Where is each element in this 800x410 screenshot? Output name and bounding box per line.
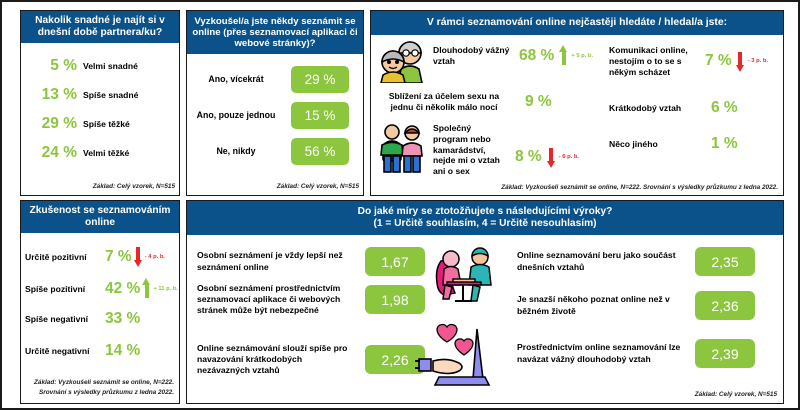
list-item: Online seznámování slouží spíše pro nava… bbox=[197, 343, 425, 377]
panel1-label-1: Spíše snadné bbox=[83, 90, 138, 100]
panel2-label-0: Ano, vícekrát bbox=[187, 74, 291, 85]
panel3-left-label-0: Dlouhodobý vážný vztah bbox=[433, 45, 513, 67]
panel4-delta-0: - 4 p. b. bbox=[145, 254, 165, 260]
infographic-sheet: Nakolik snadné je najít si v dnešní době… bbox=[0, 0, 800, 410]
panel3-left-delta-0: + 5 p. b. bbox=[571, 53, 593, 59]
list-item: Ano, pouze jednou 15 % bbox=[187, 102, 363, 129]
list-item: Něco jiného 1 % bbox=[609, 135, 738, 153]
panel1-label-2: Spíše těžké bbox=[83, 119, 130, 129]
panel3-title: V rámci seznamování online nejčastěji hl… bbox=[371, 11, 783, 35]
panel-experience-with-online-dating: Zkušenost se seznamováním online Určitě … bbox=[20, 200, 180, 404]
panel3-source: Základ: Vyzkoušeli seznámit se online, N… bbox=[501, 184, 778, 192]
panel3-right-pct-0: 7 % bbox=[705, 52, 732, 70]
panel5-title-line1: Do jaké míry se ztotožňujete s následují… bbox=[358, 206, 613, 218]
panel3-left-pct-2: 8 % bbox=[515, 148, 542, 166]
panel5-title-line2: (1 = Určitě souhlasím, 4 = Určitě nesouh… bbox=[373, 218, 596, 230]
panel4-label-1: Spíše pozitivní bbox=[21, 284, 105, 294]
arrow-up-icon bbox=[142, 278, 151, 299]
panel3-right-pct-2: 1 % bbox=[711, 135, 738, 153]
list-item: Ne, nikdy 56 % bbox=[187, 138, 363, 165]
panel3-right-label-0: Komunikaci online, nestojím o to se s ně… bbox=[609, 45, 701, 77]
arrow-down-icon bbox=[736, 51, 745, 72]
list-item: Osobní seznámení prostřednictvím seznamo… bbox=[197, 283, 425, 317]
list-item: 13 % Spíše snadné bbox=[21, 86, 179, 104]
panel1-label-3: Velmi těžké bbox=[83, 148, 129, 158]
panel2-source: Základ: Celý vzorek, N=515 bbox=[277, 183, 359, 191]
elderly-couple-icon bbox=[377, 39, 429, 83]
panel1-source: Základ: Celý vzorek, N=515 bbox=[93, 183, 175, 191]
panel4-pct-1: 42 % bbox=[105, 280, 140, 298]
panel4-label-0: Určitě pozitivní bbox=[21, 252, 105, 262]
arrow-down-icon bbox=[134, 246, 143, 267]
panel5-left-label-0: Osobní seznámení je vždy lepší než sezná… bbox=[197, 250, 357, 272]
list-item: 24 % Velmi těžké bbox=[21, 144, 179, 162]
panel2-value-0: 29 % bbox=[291, 66, 349, 93]
panel5-left-value-0: 1,67 bbox=[365, 247, 425, 276]
list-item: Spíše pozitivní 42 % + 11 p. b. bbox=[21, 278, 179, 299]
panel5-body: Osobní seznámení je vždy lepší než sezná… bbox=[187, 235, 783, 403]
couple-at-table-icon bbox=[427, 243, 499, 305]
list-item: 29 % Spíše těžké bbox=[21, 115, 179, 133]
list-item: Společný program nebo kamarádství, nejde… bbox=[433, 123, 579, 177]
list-item: Spíše negativní 33 % bbox=[21, 310, 179, 328]
panel1-body: 5 % Velmi snadné 13 % Spíše snadné 29 % … bbox=[21, 43, 179, 195]
list-item: Osobní seznámení je vždy lepší než sezná… bbox=[197, 247, 425, 276]
list-item: Je snazší někoho poznat online než v běž… bbox=[517, 291, 755, 320]
panel1-pct-0: 5 % bbox=[21, 57, 83, 75]
panel3-right-delta-0: - 3 p. b. bbox=[748, 58, 768, 64]
list-item: Krátkodobý vztah 6 % bbox=[609, 99, 738, 117]
list-item: Dlouhodobý vážný vztah 68 % + 5 p. b. bbox=[433, 45, 593, 67]
panel2-value-1: 15 % bbox=[291, 102, 349, 129]
panel5-right-label-2: Prostřednictvím online seznamování lze n… bbox=[517, 342, 687, 364]
panel3-left-delta-2: - 6 p. b. bbox=[559, 154, 579, 160]
panel3-left-pct-0: 68 % bbox=[519, 47, 554, 65]
list-item: Sblížení za účelem sexu na jednu či něko… bbox=[379, 91, 552, 113]
arrow-down-icon bbox=[547, 147, 556, 168]
panel3-right-label-2: Něco jiného bbox=[609, 139, 707, 150]
panel-agreement-with-statements: Do jaké míry se ztotožňujete s následují… bbox=[186, 200, 784, 404]
panel-ease-of-finding-partner: Nakolik snadné je najít si v dnešní době… bbox=[20, 10, 180, 196]
panel1-pct-3: 24 % bbox=[21, 144, 83, 162]
list-item: Ano, vícekrát 29 % bbox=[187, 66, 363, 93]
panel3-right-pct-1: 6 % bbox=[711, 99, 738, 117]
panel1-title: Nakolik snadné je najít si v dnešní době… bbox=[21, 11, 179, 43]
list-item: Online seznamování beru jako součást dne… bbox=[517, 247, 755, 276]
panel5-left-label-2: Online seznámování slouží spíše pro nava… bbox=[197, 343, 357, 377]
panel2-label-1: Ano, pouze jednou bbox=[187, 110, 291, 121]
panel4-pct-2: 33 % bbox=[105, 310, 140, 328]
panel5-right-value-1: 2,36 bbox=[695, 291, 755, 320]
panel4-label-2: Spíše negativní bbox=[21, 314, 105, 324]
panel2-body: Ano, vícekrát 29 % Ano, pouze jednou 15 … bbox=[187, 54, 363, 195]
two-friends-icon bbox=[377, 123, 429, 173]
panel1-pct-2: 29 % bbox=[21, 115, 83, 133]
list-item: Určitě pozitivní 7 % - 4 p. b. bbox=[21, 246, 179, 267]
panel5-right-label-1: Je snazší někoho poznat online než v běž… bbox=[517, 294, 687, 316]
panel4-title: Zkušenost se seznamováním online bbox=[21, 201, 179, 233]
list-item: Určitě negativní 14 % bbox=[21, 342, 179, 360]
list-item: Komunikaci online, nestojím o to se s ně… bbox=[609, 45, 768, 77]
hand-on-laptop-hearts-icon bbox=[415, 313, 505, 393]
arrow-up-icon bbox=[559, 45, 568, 66]
panel5-left-label-1: Osobní seznámení prostřednictvím seznamo… bbox=[197, 283, 357, 317]
panel5-source: Základ: Celý vzorek, N=515 bbox=[695, 391, 777, 399]
panel3-left-pct-1: 9 % bbox=[525, 93, 552, 111]
list-item: 5 % Velmi snadné bbox=[21, 57, 179, 75]
panel1-label-0: Velmi snadné bbox=[83, 61, 138, 71]
panel3-left-label-1: Sblížení za účelem sexu na jednu či něko… bbox=[379, 91, 509, 113]
panel4-body: Určitě pozitivní 7 % - 4 p. b. Spíše poz… bbox=[21, 233, 179, 403]
panel4-source-line2: Srovnání s výsledky průzkumu z ledna 202… bbox=[39, 389, 174, 397]
panel4-pct-0: 7 % bbox=[105, 248, 132, 266]
panel4-label-3: Určitě negativní bbox=[21, 346, 105, 356]
panel4-pct-3: 14 % bbox=[105, 342, 140, 360]
panel2-value-2: 56 % bbox=[291, 138, 349, 165]
panel5-right-value-0: 2,35 bbox=[695, 247, 755, 276]
panel3-left-label-2: Společný program nebo kamarádství, nejde… bbox=[433, 123, 507, 177]
panel4-source-line1: Základ: Vyzkoušeli seznámit se online, N… bbox=[34, 379, 174, 387]
panel5-right-label-0: Online seznamování beru jako součást dne… bbox=[517, 250, 687, 272]
panel-tried-online-dating: Vyzkoušel/a jste někdy seznámit se onlin… bbox=[186, 10, 364, 196]
panel4-delta-1: + 11 p. b. bbox=[153, 286, 178, 292]
panel5-left-value-1: 1,98 bbox=[365, 285, 425, 314]
panel2-label-2: Ne, nikdy bbox=[187, 146, 291, 157]
panel5-right-value-2: 2,39 bbox=[695, 339, 755, 368]
panel-what-looking-for-online: V rámci seznamování online nejčastěji hl… bbox=[370, 10, 784, 196]
panel5-title: Do jaké míry se ztotožňujete s následují… bbox=[187, 201, 783, 235]
panel1-pct-1: 13 % bbox=[21, 86, 83, 104]
panel2-title: Vyzkoušel/a jste někdy seznámit se onlin… bbox=[187, 11, 363, 54]
panel3-right-label-1: Krátkodobý vztah bbox=[609, 103, 707, 114]
panel3-body: Dlouhodobý vážný vztah 68 % + 5 p. b. Sb… bbox=[371, 35, 783, 195]
list-item: Prostřednictvím online seznamování lze n… bbox=[517, 339, 755, 368]
